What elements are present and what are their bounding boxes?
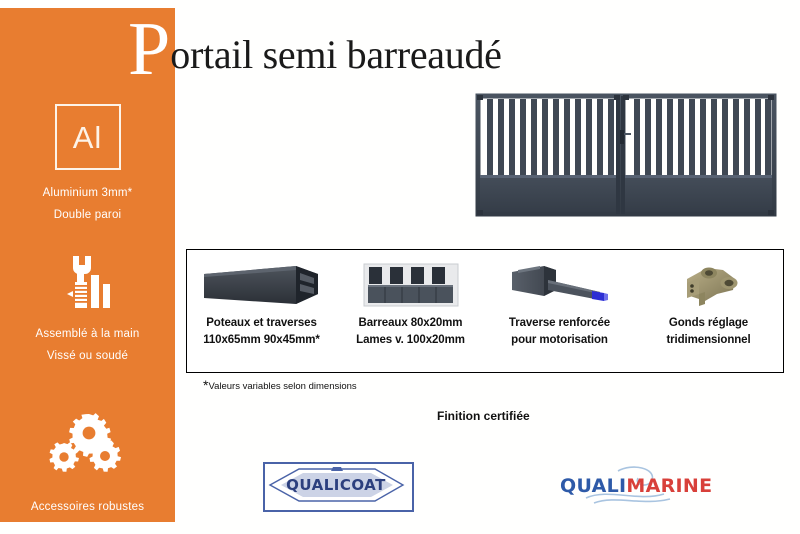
aluminium-square-icon: Al: [55, 104, 121, 170]
feature-barreaux-caption: Barreaux 80x20mm Lames v. 100x20mm: [356, 315, 465, 349]
feature-poteaux-caption: Poteaux et traverses 110x65mm 90x45mm*: [203, 315, 320, 349]
feature-traverse-line2: pour motorisation: [509, 332, 610, 349]
feature-poteaux: Poteaux et traverses 110x65mm 90x45mm*: [187, 250, 336, 372]
semi-barred-double-gate-image: [468, 86, 784, 226]
title-text: ortail semi barreaudé: [170, 24, 501, 86]
feature-barreaux: Barreaux 80x20mm Lames v. 100x20mm: [336, 250, 485, 372]
bars-slats-sample-icon: [362, 259, 460, 311]
sidebar-item-aluminium-line1: Aluminium 3mm*: [0, 182, 175, 204]
feature-gonds-caption: Gonds réglage tridimensionnel: [666, 315, 750, 349]
feature-poteaux-line1: Poteaux et traverses: [206, 317, 317, 329]
feature-gonds-line1: Gonds réglage: [669, 317, 748, 329]
feature-traverse-caption: Traverse renforcée pour motorisation: [509, 315, 610, 349]
feature-traverse: Traverse renforcée pour motorisation: [485, 250, 634, 372]
product-datasheet-page: Al Aluminium 3mm* Double paroi: [0, 0, 800, 534]
qualimarine-logo: QUALIMARINE: [560, 466, 712, 506]
feature-traverse-line1: Traverse renforcée: [509, 317, 610, 329]
reinforced-crossbar-icon: [504, 259, 616, 311]
wrench-assembly-icon: [0, 253, 175, 313]
sidebar-item-assembly: Assemblé à la main Vissé ou soudé: [0, 253, 175, 367]
feature-barreaux-line1: Barreaux 80x20mm: [359, 317, 463, 329]
qualimarine-part1: QUALI: [560, 475, 626, 497]
sidebar-item-assembly-line1: Assemblé à la main: [0, 323, 175, 345]
qualicoat-logo: QUALICOAT: [263, 462, 414, 512]
gears-icon: [0, 408, 175, 478]
sidebar-item-aluminium-line2: Double paroi: [0, 204, 175, 226]
qualimarine-logo-text: QUALIMARINE: [560, 475, 712, 497]
qualicoat-logo-text: QUALICOAT: [286, 476, 386, 494]
post-crossbar-profile-icon: [200, 259, 324, 311]
sidebar-item-accessories-line1: Accessoires robustes: [0, 496, 175, 518]
feature-barreaux-line2: Lames v. 100x20mm: [356, 332, 465, 349]
sidebar-item-assembly-line2: Vissé ou soudé: [0, 345, 175, 367]
sidebar-item-accessories: Accessoires robustes: [0, 408, 175, 518]
qualimarine-part2: MARINE: [626, 475, 712, 497]
sidebar-item-aluminium: Al Aluminium 3mm* Double paroi: [0, 104, 175, 226]
page-title: P ortail semi barreaudé: [128, 24, 502, 86]
title-dropcap: P: [128, 18, 170, 80]
footnote-text: Valeurs variables selon dimensions: [208, 381, 356, 392]
feature-poteaux-line2: 110x65mm 90x45mm*: [203, 332, 320, 349]
features-box: Poteaux et traverses 110x65mm 90x45mm*: [186, 249, 784, 373]
adjustable-hinge-icon: [673, 259, 745, 311]
aluminium-icon-label: Al: [73, 122, 103, 153]
footnote: *Valeurs variables selon dimensions: [203, 381, 357, 392]
certification-heading: Finition certifiée: [437, 409, 530, 423]
feature-gonds: Gonds réglage tridimensionnel: [634, 250, 783, 372]
feature-gonds-line2: tridimensionnel: [666, 332, 750, 349]
